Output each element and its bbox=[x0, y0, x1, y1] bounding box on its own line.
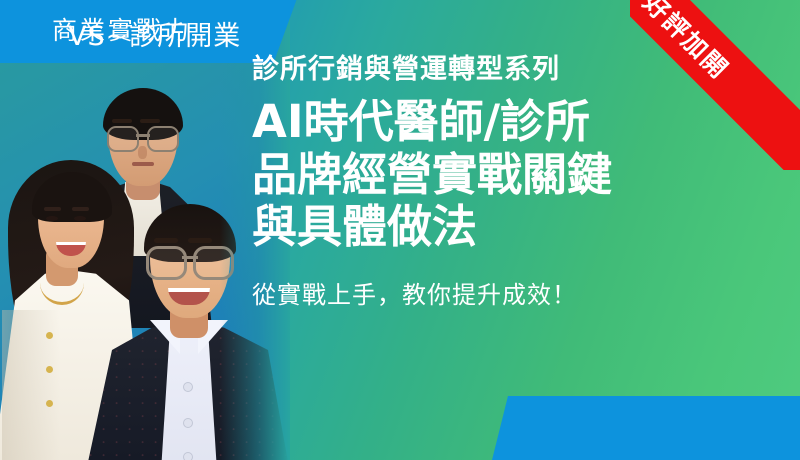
course-title-line-1: AI時代醫師/診所 bbox=[252, 96, 722, 148]
front-man-button-1 bbox=[183, 382, 193, 392]
back-man-glasses-bridge bbox=[136, 134, 150, 137]
front-man-lens-left bbox=[146, 246, 187, 280]
back-man-brow-right bbox=[140, 119, 160, 123]
course-title-line-2: 品牌經營實戰關鍵 bbox=[252, 149, 722, 201]
speakers-photo bbox=[0, 0, 290, 460]
woman-brow-left bbox=[44, 207, 61, 211]
woman-brow-right bbox=[72, 207, 89, 211]
back-man-brow-left bbox=[112, 119, 132, 123]
front-man-button-3 bbox=[183, 452, 193, 460]
glasses-icon bbox=[107, 126, 179, 148]
back-man-nose bbox=[138, 146, 147, 159]
woman-button-1 bbox=[46, 332, 53, 339]
footer-banner-label: VS~診所開業 bbox=[68, 14, 241, 53]
course-title-line-3: 與具體做法 bbox=[252, 201, 722, 253]
front-man-brow-right bbox=[188, 238, 212, 243]
headline-block: 診所行銷與營運轉型系列 AI時代醫師/診所 品牌經營實戰關鍵 與具體做法 從實戰… bbox=[252, 54, 722, 310]
front-man-glasses-bridge bbox=[182, 256, 198, 259]
front-man-button-2 bbox=[183, 418, 193, 428]
footer-banner bbox=[492, 396, 800, 460]
course-title: AI時代醫師/診所 品牌經營實戰關鍵 與具體做法 bbox=[252, 96, 722, 253]
woman-button-2 bbox=[46, 366, 53, 373]
series-subtitle: 診所行銷與營運轉型系列 bbox=[252, 54, 722, 86]
woman-button-3 bbox=[46, 400, 53, 407]
course-tagline: 從實戰上手，教你提升成效！ bbox=[252, 275, 722, 310]
front-man-brow-left bbox=[154, 238, 178, 243]
woman-eye-right bbox=[74, 216, 86, 221]
back-man-lens-left bbox=[107, 126, 139, 152]
course-promo-banner: 商業實戰力 好評加開 診所行銷與營運轉型系列 AI時代醫師/診所 品牌經營實戰關… bbox=[0, 0, 800, 460]
back-man-lens-right bbox=[147, 126, 179, 152]
woman-eye-left bbox=[46, 216, 58, 221]
